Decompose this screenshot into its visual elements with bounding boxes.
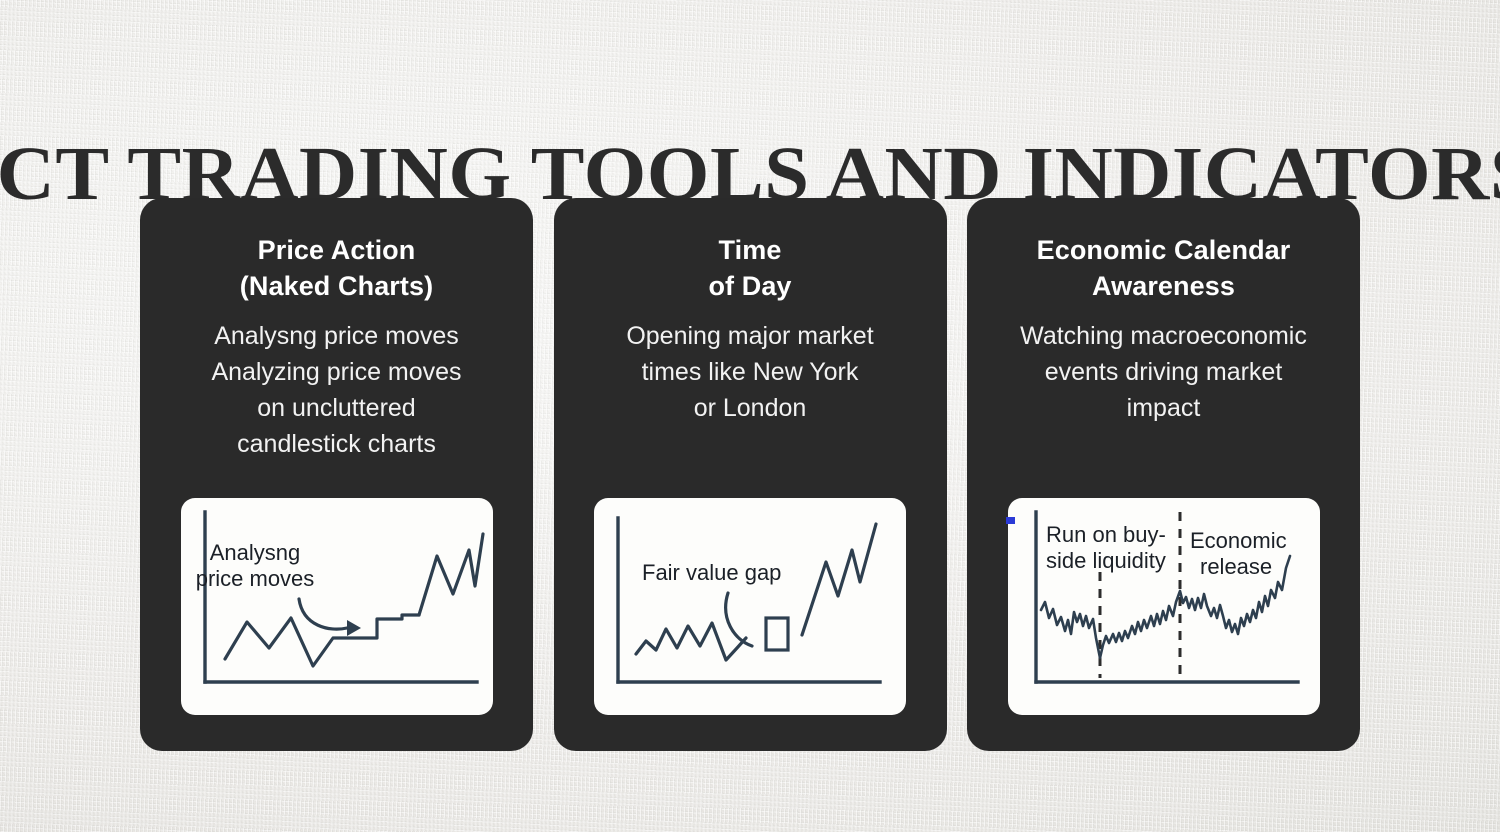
annotation-left-line-2: side liquidity xyxy=(1046,548,1166,573)
callout-arrow-head xyxy=(347,620,361,636)
callout-curve xyxy=(726,593,752,646)
slide-canvas: ICT TRADING TOOLS AND INDICATORS Price A… xyxy=(0,0,1500,832)
callout-arrow-curve xyxy=(299,599,347,629)
blue-square-artifact xyxy=(1006,517,1015,524)
card-time-of-day[interactable]: Time of Day Opening major market times l… xyxy=(554,198,947,751)
annotation-left-line-1: Run on buy- xyxy=(1046,522,1166,547)
card-heading: Economic Calendar Awareness xyxy=(1037,232,1291,304)
annotation-line-1: Analysng xyxy=(209,540,300,565)
fair-value-gap-box xyxy=(766,618,788,650)
price-line xyxy=(225,615,419,666)
annotation-line-2: price moves xyxy=(195,566,314,591)
annotation-fair-value-gap: Fair value gap xyxy=(642,560,781,585)
card-body: Watching macroeconomic events driving ma… xyxy=(1020,318,1307,426)
illustration-price-action: Analysng price moves xyxy=(181,498,493,715)
price-line-right xyxy=(802,524,876,635)
illustration-fair-value-gap: Fair value gap xyxy=(594,498,906,715)
card-body: Analysng price moves Analyzing price mov… xyxy=(211,318,461,462)
price-line-continuation xyxy=(419,534,483,615)
card-heading: Price Action (Naked Charts) xyxy=(240,232,433,304)
annotation-right-line-2: release xyxy=(1200,554,1272,579)
card-heading: Time of Day xyxy=(708,232,791,304)
annotation-right-line-1: Economic xyxy=(1190,528,1287,553)
card-price-action[interactable]: Price Action (Naked Charts) Analysng pri… xyxy=(140,198,533,751)
illustration-economic-calendar: Run on buy- side liquidity Economic rele… xyxy=(1008,498,1320,715)
card-economic-calendar[interactable]: Economic Calendar Awareness Watching mac… xyxy=(967,198,1360,751)
card-grid: Price Action (Naked Charts) Analysng pri… xyxy=(140,198,1360,751)
card-body: Opening major market times like New York… xyxy=(626,318,873,426)
